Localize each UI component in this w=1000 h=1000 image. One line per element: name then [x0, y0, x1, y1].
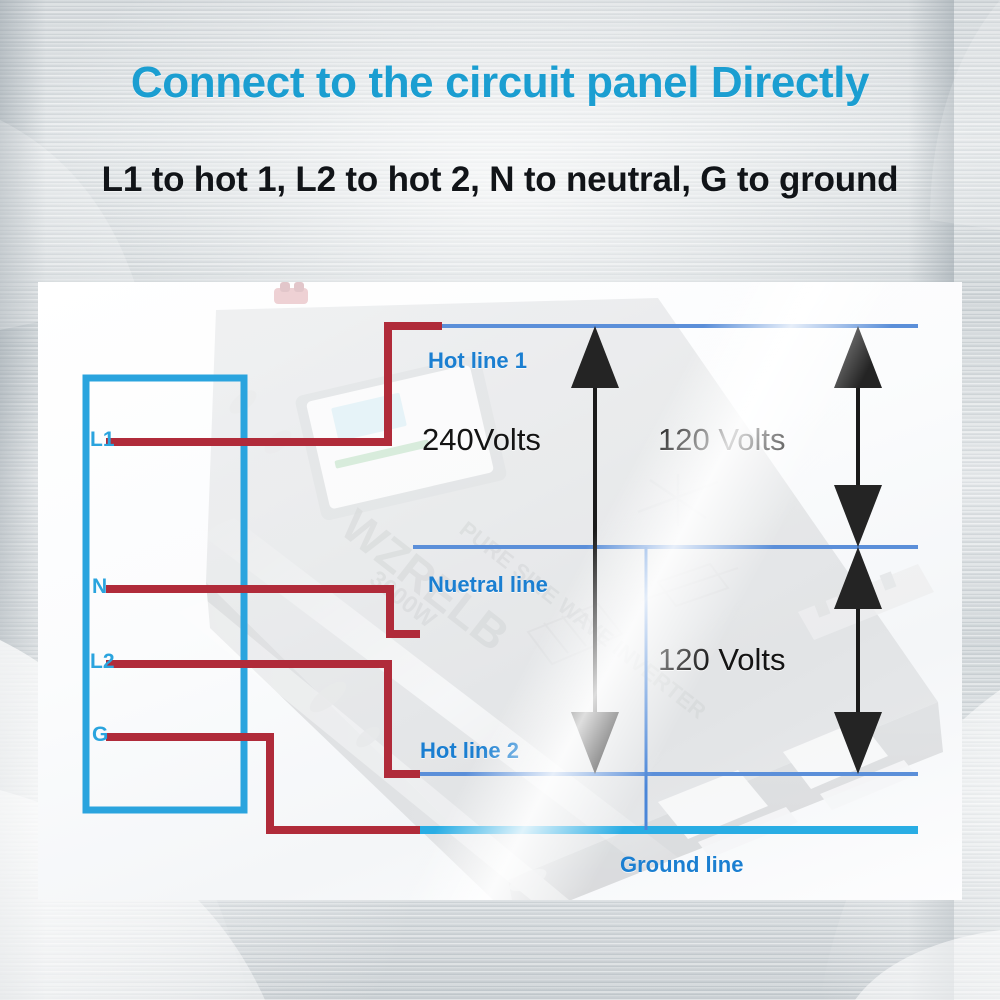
terminal-label-l1: L1 [90, 428, 115, 452]
page-subtitle: L1 to hot 1, L2 to hot 2, N to neutral, … [0, 160, 1000, 200]
terminal-label-l2: L2 [90, 650, 115, 674]
label-neutral-line: Nuetral line [428, 572, 548, 598]
terminal-label-g: G [92, 723, 108, 747]
label-120-volts-upper: 120 Volts [658, 422, 786, 458]
wire-g [106, 737, 420, 830]
wire-l1 [106, 326, 442, 442]
wire-n [106, 589, 420, 634]
label-ground-line: Ground line [620, 852, 743, 878]
page-title: Connect to the circuit panel Directly [0, 58, 1000, 108]
label-hot-line-1: Hot line 1 [428, 348, 527, 374]
measure-240v-arrow [571, 326, 619, 774]
label-240-volts: 240Volts [422, 422, 541, 458]
wiring-diagram-panel: WZRELB 3000W PURE SINE WAVE INVERTER [38, 282, 962, 900]
label-120-volts-lower: 120 Volts [658, 642, 786, 678]
wire-l2 [106, 664, 420, 774]
measure-120v-upper-arrow [834, 326, 882, 547]
measure-120v-lower-arrow [834, 547, 882, 774]
label-hot-line-2: Hot line 2 [420, 738, 519, 764]
terminal-label-n: N [92, 575, 107, 599]
